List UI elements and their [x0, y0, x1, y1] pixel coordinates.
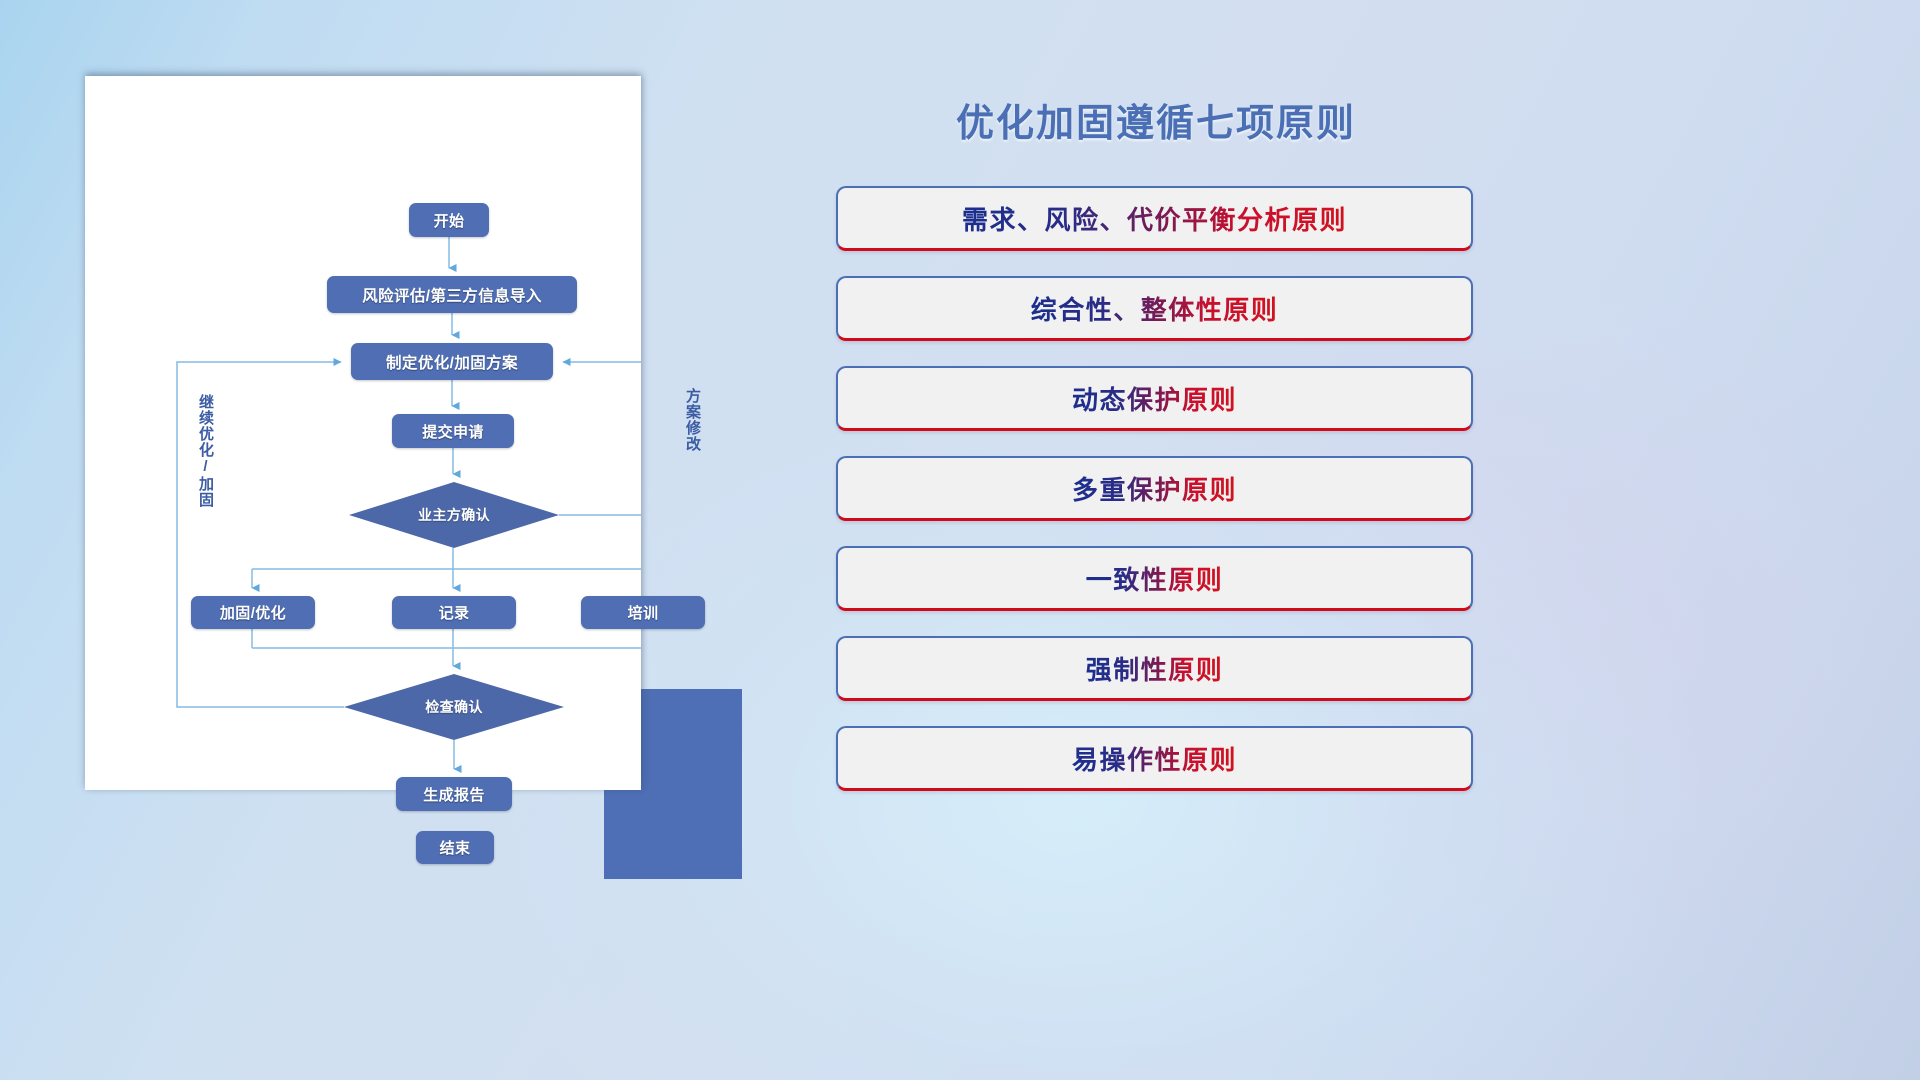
principle-item-4-label: 多重保护原则	[1072, 470, 1237, 507]
principles-list: 需求、风险、代价平衡分析原则 综合性、整体性原则 动态保护原则 多重保护原则 一…	[836, 186, 1473, 791]
flowchart-card: 开始 风险评估/第三方信息导入 制定优化/加固方案 提交申请 业主方确认 加固/…	[85, 76, 641, 790]
flow-node-train[interactable]: 培训	[581, 596, 705, 629]
principle-item-2[interactable]: 综合性、整体性原则	[836, 276, 1473, 341]
flow-node-risk-assessment[interactable]: 风险评估/第三方信息导入	[327, 276, 577, 313]
flow-node-submit-application[interactable]: 提交申请	[392, 414, 514, 448]
flowchart-panel: 开始 风险评估/第三方信息导入 制定优化/加固方案 提交申请 业主方确认 加固/…	[85, 76, 641, 790]
principle-item-4[interactable]: 多重保护原则	[836, 456, 1473, 521]
flow-edge-label-right-loop: 方案修改	[685, 388, 700, 452]
flow-decision-check-confirm[interactable]: 检查确认	[344, 674, 564, 740]
flow-decision-owner-confirm[interactable]: 业主方确认	[349, 482, 559, 548]
principle-item-2-label: 综合性、整体性原则	[1031, 290, 1279, 327]
principle-item-1-label: 需求、风险、代价平衡分析原则	[962, 200, 1347, 237]
principles-panel: 优化加固遵循七项原则 需求、风险、代价平衡分析原则 综合性、整体性原则 动态保护…	[836, 82, 1476, 1012]
principle-item-5[interactable]: 一致性原则	[836, 546, 1473, 611]
principle-item-1[interactable]: 需求、风险、代价平衡分析原则	[836, 186, 1473, 251]
flow-edge-label-left-loop: 继续优化/加固	[198, 394, 213, 508]
principle-item-6[interactable]: 强制性原则	[836, 636, 1473, 701]
flow-node-make-plan[interactable]: 制定优化/加固方案	[351, 343, 553, 380]
principle-item-3-label: 动态保护原则	[1072, 380, 1237, 417]
principles-title: 优化加固遵循七项原则	[836, 92, 1476, 147]
principle-item-7[interactable]: 易操作性原则	[836, 726, 1473, 791]
principle-item-7-label: 易操作性原则	[1072, 740, 1237, 777]
flow-decision-owner-confirm-label: 业主方确认	[418, 505, 490, 525]
flow-decision-check-confirm-label: 检查确认	[425, 697, 483, 717]
flow-node-start[interactable]: 开始	[409, 203, 489, 237]
slide-canvas: 开始 风险评估/第三方信息导入 制定优化/加固方案 提交申请 业主方确认 加固/…	[0, 0, 1920, 1080]
principle-item-3[interactable]: 动态保护原则	[836, 366, 1473, 431]
principle-item-6-label: 强制性原则	[1086, 650, 1224, 687]
flow-node-reinforce[interactable]: 加固/优化	[191, 596, 315, 629]
principle-item-5-label: 一致性原则	[1086, 560, 1224, 597]
accent-block-horizontal	[604, 839, 742, 879]
flow-node-record[interactable]: 记录	[392, 596, 516, 629]
flow-node-end[interactable]: 结束	[416, 831, 494, 864]
flow-node-generate-report[interactable]: 生成报告	[396, 777, 512, 811]
